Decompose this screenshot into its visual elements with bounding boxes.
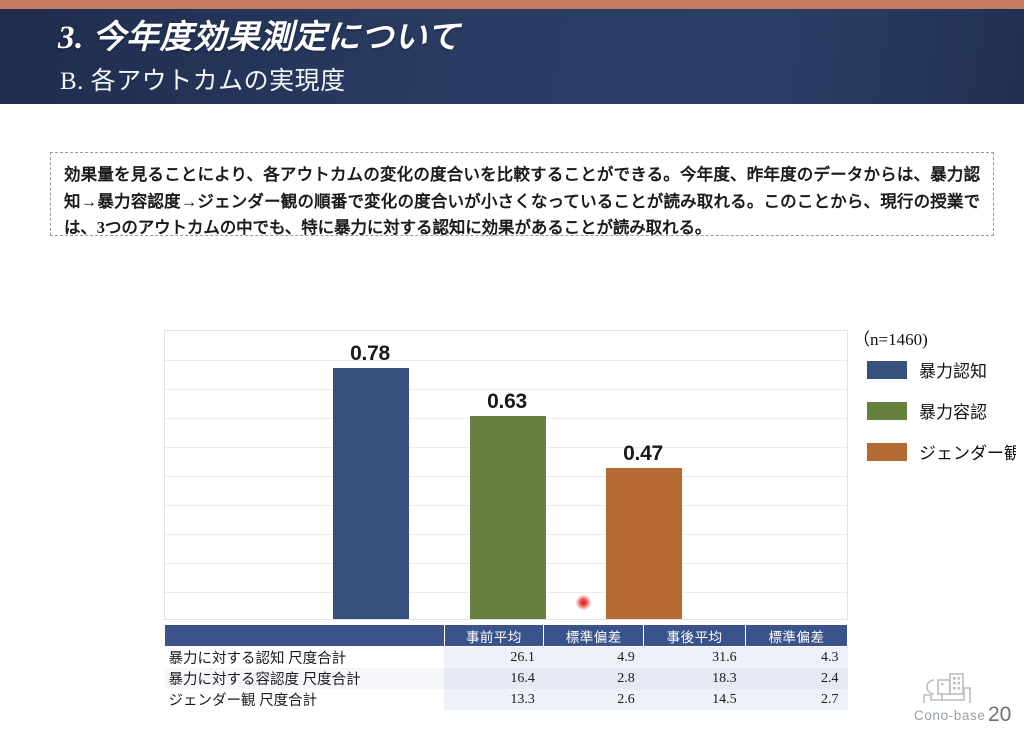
table-row: ジェンダー観 尺度合計13.32.614.52.7	[165, 689, 848, 710]
table-cell-4: 4.3	[746, 647, 848, 669]
table-corner-cell	[165, 625, 445, 647]
bar-chart-plot-area	[164, 330, 848, 620]
bar-1	[333, 368, 409, 619]
table-cell-4: 2.7	[746, 689, 848, 710]
legend-label: ジェンダー観	[919, 439, 1021, 464]
page-number: 20	[988, 703, 1011, 727]
right-gutter	[1016, 104, 1024, 751]
table-header-post-sd: 標準偏差	[746, 625, 848, 647]
table-header-pre-sd: 標準偏差	[544, 625, 644, 647]
laser-pointer-dot	[576, 595, 591, 610]
gridline	[165, 360, 847, 361]
table-cell-4: 2.4	[746, 668, 848, 689]
page-subtitle: B. 各アウトカムの実現度	[60, 61, 346, 97]
callout-body: 効果量を見ることにより、各アウトカムの変化の度合いを比較することができる。今年度…	[64, 162, 980, 242]
cono-base-logo-icon	[920, 672, 982, 706]
bar-3	[606, 468, 682, 619]
table-row-label: ジェンダー観 尺度合計	[165, 689, 445, 710]
legend-swatch-icon	[867, 402, 907, 420]
table-cell-3: 18.3	[644, 668, 746, 689]
legend-item-1: 暴力認知	[853, 357, 1018, 382]
table-header-post-mean: 事後平均	[644, 625, 746, 647]
table-cell-2: 2.6	[544, 689, 644, 710]
table-cell-2: 4.9	[544, 647, 644, 669]
summary-table: 事前平均 標準偏差 事後平均 標準偏差 暴力に対する認知 尺度合計26.14.9…	[164, 624, 848, 710]
table-cell-1: 26.1	[444, 647, 544, 669]
legend-label: 暴力容認	[919, 398, 987, 423]
table-cell-1: 13.3	[444, 689, 544, 710]
table-row-label: 暴力に対する容認度 尺度合計	[165, 668, 445, 689]
chart-legend: （n=1460) 暴力認知暴力容認ジェンダー観	[853, 325, 1018, 480]
table-cell-3: 14.5	[644, 689, 746, 710]
legend-item-2: 暴力容認	[853, 398, 1018, 423]
table-row: 暴力に対する容認度 尺度合計16.42.818.32.4	[165, 668, 848, 689]
bar-label-1: 0.78	[332, 342, 408, 366]
legend-swatch-icon	[867, 361, 907, 379]
page-title: 3. 今年度効果測定について	[58, 10, 460, 58]
table-cell-2: 2.8	[544, 668, 644, 689]
legend-swatch-icon	[867, 443, 907, 461]
top-accent-strip	[0, 0, 1024, 9]
bar-2	[470, 416, 546, 619]
table-row: 暴力に対する認知 尺度合計26.14.931.64.3	[165, 647, 848, 669]
bar-label-2: 0.63	[469, 390, 545, 414]
table-row-label: 暴力に対する認知 尺度合計	[165, 647, 445, 669]
legend-label: 暴力認知	[919, 357, 987, 382]
legend-item-3: ジェンダー観	[853, 439, 1018, 464]
slide-header-banner: 3. 今年度効果測定について B. 各アウトカムの実現度	[0, 9, 1024, 104]
table-cell-1: 16.4	[444, 668, 544, 689]
slide-root: 3. 今年度効果測定について B. 各アウトカムの実現度 効果量を見ることにより…	[0, 0, 1024, 751]
legend-sample-size: （n=1460)	[853, 325, 1018, 350]
bar-label-3: 0.47	[605, 442, 681, 466]
table-cell-3: 31.6	[644, 647, 746, 669]
table-header-pre-mean: 事前平均	[444, 625, 544, 647]
footer-brand-label: Cono-base	[914, 708, 985, 723]
callout-textbox: 効果量を見ることにより、各アウトカムの変化の度合いを比較することができる。今年度…	[50, 152, 994, 236]
table-header-row: 事前平均 標準偏差 事後平均 標準偏差	[165, 625, 848, 647]
